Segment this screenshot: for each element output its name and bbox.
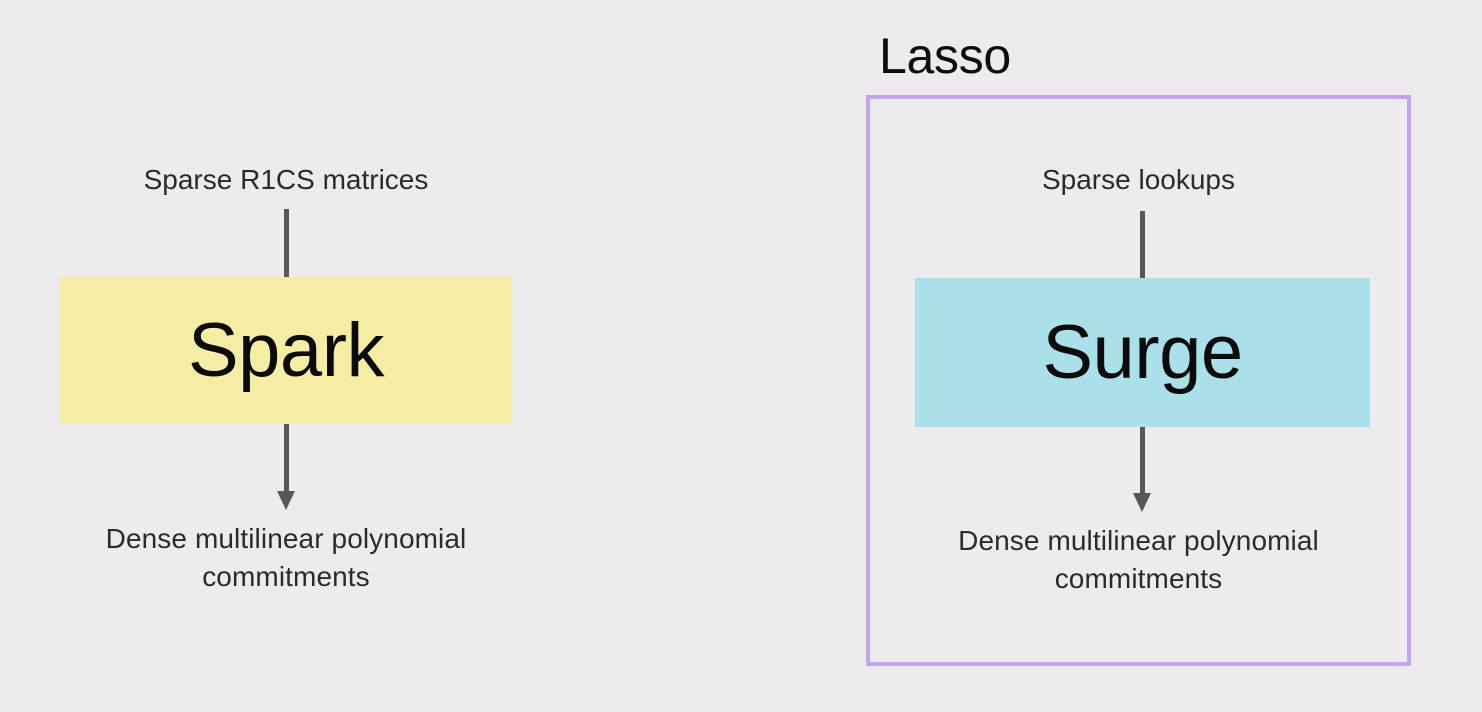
left-output-label: Dense multilinear polynomial commitments xyxy=(0,520,572,596)
lasso-title: Lasso xyxy=(879,31,1011,81)
left-input-connector-line xyxy=(284,209,289,279)
left-output-arrow-line xyxy=(284,424,289,492)
lasso-output-arrow-line xyxy=(1140,427,1145,494)
left-input-label: Sparse R1CS matrices xyxy=(0,164,572,196)
surge-box: Surge xyxy=(915,278,1370,427)
left-output-arrow-head-icon xyxy=(277,491,295,510)
spark-box: Spark xyxy=(60,277,512,424)
lasso-output-label: Dense multilinear polynomial commitments xyxy=(866,522,1411,598)
lasso-output-arrow-head-icon xyxy=(1133,493,1151,512)
diagram-canvas: Sparse R1CS matrices Spark Dense multili… xyxy=(0,0,1482,712)
lasso-input-label: Sparse lookups xyxy=(866,164,1411,196)
lasso-input-connector-line xyxy=(1140,211,1145,278)
